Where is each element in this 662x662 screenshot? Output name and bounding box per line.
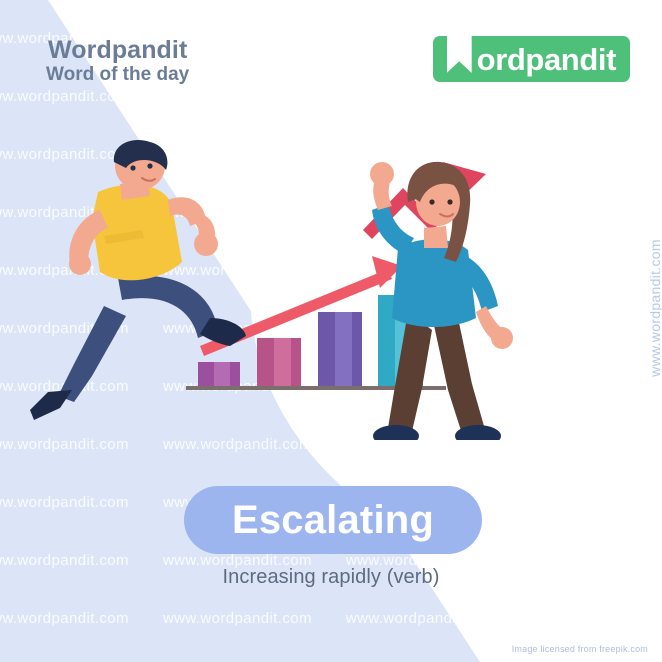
page-title: Wordpandit [48, 36, 189, 64]
wordpandit-logo[interactable]: ordpandit [433, 36, 630, 82]
word-meaning: Increasing rapidly (verb) [0, 566, 662, 589]
brand-block: Wordpandit Word of the day [48, 36, 189, 87]
word-of-the-day: Escalating [232, 500, 434, 540]
word-of-the-day-card: www.wordpandit.comwww.wordpandit.comwww.… [0, 0, 662, 662]
bar-2-highlight [274, 338, 291, 386]
bar-1-highlight [214, 362, 230, 386]
growth-chart-illustration [0, 140, 662, 440]
bar-3-highlight [335, 312, 352, 386]
bookmark-icon [447, 28, 472, 73]
logo-text: ordpandit [477, 44, 616, 75]
image-credit: Image licensed from freepik.com [512, 644, 648, 654]
page-subtitle: Word of the day [46, 64, 189, 87]
word-banner: Escalating [184, 486, 482, 554]
